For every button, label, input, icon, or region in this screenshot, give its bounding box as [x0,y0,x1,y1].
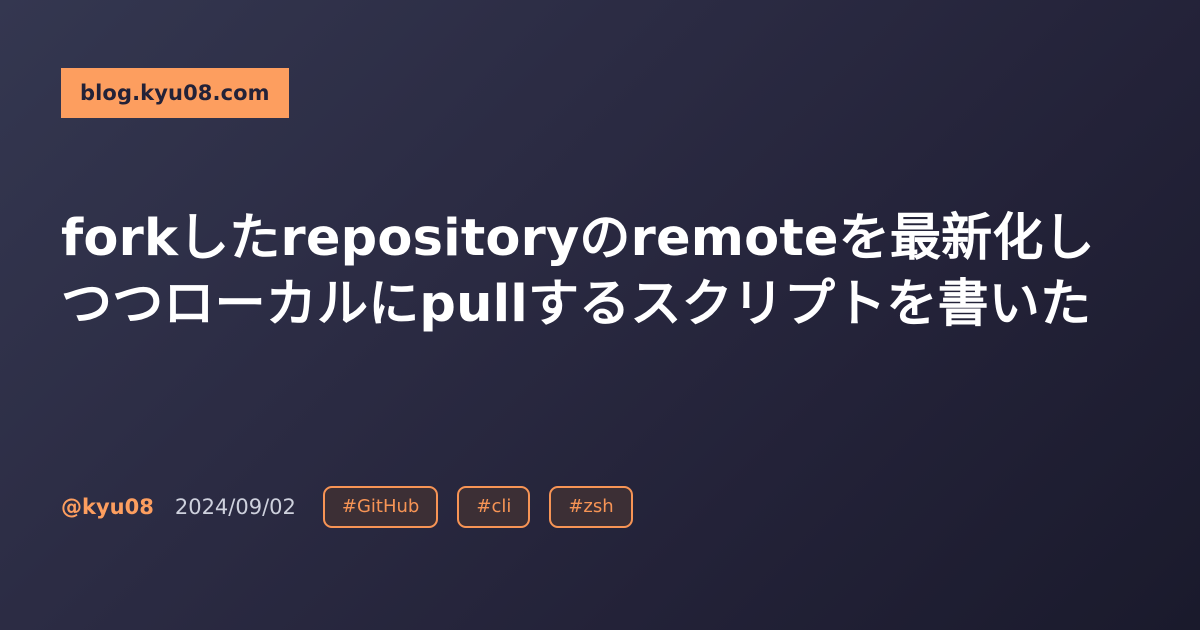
page-title: forkしたrepositoryのremoteを最新化しつつローカルにpullす… [61,206,1139,338]
tag-list: #GitHub #cli #zsh [323,486,633,528]
title-container: forkしたrepositoryのremoteを最新化しつつローカルにpullす… [61,206,1139,338]
author-handle[interactable]: @kyu08 [61,497,154,518]
tag-github[interactable]: #GitHub [323,486,438,528]
tag-cli[interactable]: #cli [457,486,530,528]
tag-zsh[interactable]: #zsh [549,486,632,528]
post-date: 2024/09/02 [175,497,296,518]
og-card: blog.kyu08.com forkしたrepositoryのremoteを最… [0,0,1200,630]
post-meta: @kyu08 2024/09/02 #GitHub #cli #zsh [61,486,633,528]
site-badge[interactable]: blog.kyu08.com [61,68,289,118]
